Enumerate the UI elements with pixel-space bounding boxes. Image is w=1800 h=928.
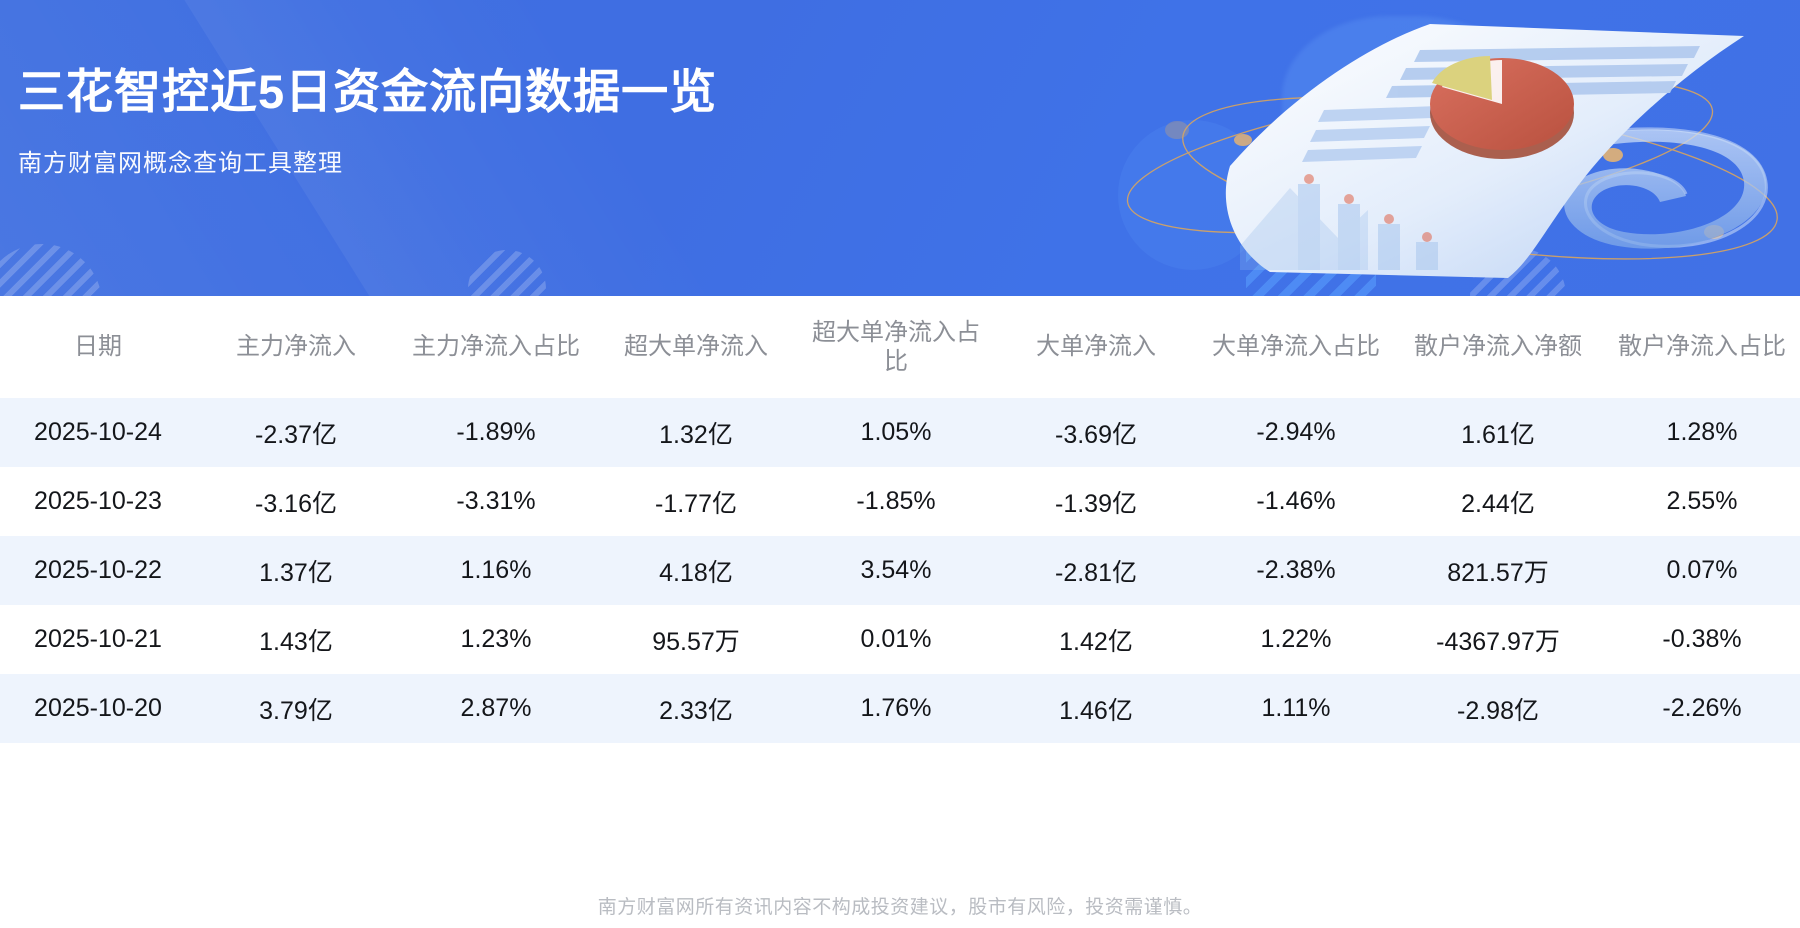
cell-retail-net-inflow-ratio: -0.38% [1600, 605, 1800, 674]
table-row: 2025-10-22 1.37亿 1.16% 4.18亿 3.54% -2.81… [0, 536, 1800, 605]
fund-flow-table: 日期 主力净流入 主力净流入占比 超大单净流入 超大单净流入占比 大单净流入 大… [0, 296, 1800, 743]
financial-report-illustration [1120, 0, 1800, 296]
cell-date: 2025-10-22 [0, 536, 196, 605]
paper-text-lines-secondary [1302, 106, 1438, 162]
cell-extra-large-order-net-inflow-ratio: 1.05% [796, 398, 996, 467]
cell-retail-net-inflow-amount: 1.61亿 [1396, 398, 1600, 467]
page-footer: 南方财富网所有资讯内容不构成投资建议，股市有风险，投资需谨慎。 [0, 882, 1800, 928]
cell-main-net-inflow: -2.37亿 [196, 398, 396, 467]
disclaimer-text: 南方财富网所有资讯内容不构成投资建议，股市有风险，投资需谨慎。 [598, 892, 1203, 919]
cell-large-order-net-inflow: -2.81亿 [996, 536, 1196, 605]
cell-extra-large-order-net-inflow: 2.33亿 [596, 674, 796, 743]
cell-retail-net-inflow-ratio: -2.26% [1600, 674, 1800, 743]
cell-large-order-net-inflow-ratio: 1.11% [1196, 674, 1396, 743]
cell-large-order-net-inflow-ratio: -1.46% [1196, 467, 1396, 536]
cell-retail-net-inflow-ratio: 2.55% [1600, 467, 1800, 536]
cell-extra-large-order-net-inflow: -1.77亿 [596, 467, 796, 536]
cell-extra-large-order-net-inflow: 1.32亿 [596, 398, 796, 467]
cell-large-order-net-inflow: -1.39亿 [996, 467, 1196, 536]
cell-large-order-net-inflow: -3.69亿 [996, 398, 1196, 467]
cell-extra-large-order-net-inflow: 4.18亿 [596, 536, 796, 605]
cell-large-order-net-inflow-ratio: -2.38% [1196, 536, 1396, 605]
cell-date: 2025-10-24 [0, 398, 196, 467]
striped-circle-decoration [468, 250, 546, 296]
column-header-large-order-net-inflow: 大单净流入 [996, 296, 1196, 398]
cell-extra-large-order-net-inflow: 95.57万 [596, 605, 796, 674]
cell-extra-large-order-net-inflow-ratio: -1.85% [796, 467, 996, 536]
cell-extra-large-order-net-inflow-ratio: 3.54% [796, 536, 996, 605]
table-header-row: 日期 主力净流入 主力净流入占比 超大单净流入 超大单净流入占比 大单净流入 大… [0, 296, 1800, 398]
cell-main-net-inflow: 3.79亿 [196, 674, 396, 743]
page-title: 三花智控近5日资金流向数据一览 [18, 53, 717, 122]
table-row: 2025-10-23 -3.16亿 -3.31% -1.77亿 -1.85% -… [0, 467, 1800, 536]
page-banner: 三花智控近5日资金流向数据一览 南方财富网概念查询工具整理 [0, 0, 1800, 296]
table-row: 2025-10-20 3.79亿 2.87% 2.33亿 1.76% 1.46亿… [0, 674, 1800, 743]
column-header-extra-large-order-net-inflow: 超大单净流入 [596, 296, 796, 398]
cell-large-order-net-inflow-ratio: 1.22% [1196, 605, 1396, 674]
cell-date: 2025-10-23 [0, 467, 196, 536]
cell-main-net-inflow: 1.43亿 [196, 605, 396, 674]
cell-main-net-inflow-ratio: 1.23% [396, 605, 596, 674]
cell-main-net-inflow-ratio: 2.87% [396, 674, 596, 743]
cell-retail-net-inflow-ratio: 1.28% [1600, 398, 1800, 467]
pie-chart-graphic [1430, 56, 1574, 159]
cell-date: 2025-10-21 [0, 605, 196, 674]
cell-main-net-inflow-ratio: -3.31% [396, 467, 596, 536]
cell-main-net-inflow-ratio: 1.16% [396, 536, 596, 605]
cell-retail-net-inflow-amount: 821.57万 [1396, 536, 1600, 605]
table-row: 2025-10-21 1.43亿 1.23% 95.57万 0.01% 1.42… [0, 605, 1800, 674]
cell-date: 2025-10-20 [0, 674, 196, 743]
striped-circle-decoration [0, 244, 102, 296]
cell-large-order-net-inflow: 1.42亿 [996, 605, 1196, 674]
page-subtitle: 南方财富网概念查询工具整理 [18, 143, 343, 178]
column-header-extra-large-order-net-inflow-ratio: 超大单净流入占比 [796, 296, 996, 398]
table-body: 2025-10-24 -2.37亿 -1.89% 1.32亿 1.05% -3.… [0, 398, 1800, 743]
table-row: 2025-10-24 -2.37亿 -1.89% 1.32亿 1.05% -3.… [0, 398, 1800, 467]
cell-retail-net-inflow-ratio: 0.07% [1600, 536, 1800, 605]
column-header-large-order-net-inflow-ratio: 大单净流入占比 [1196, 296, 1396, 398]
cell-main-net-inflow: -3.16亿 [196, 467, 396, 536]
cell-retail-net-inflow-amount: 2.44亿 [1396, 467, 1600, 536]
column-header-main-net-inflow-ratio: 主力净流入占比 [396, 296, 596, 398]
cell-retail-net-inflow-amount: -4367.97万 [1396, 605, 1600, 674]
cell-main-net-inflow: 1.37亿 [196, 536, 396, 605]
column-header-retail-net-inflow-amount: 散户净流入净额 [1396, 296, 1600, 398]
cell-large-order-net-inflow: 1.46亿 [996, 674, 1196, 743]
column-header-main-net-inflow: 主力净流入 [196, 296, 396, 398]
cell-main-net-inflow-ratio: -1.89% [396, 398, 596, 467]
fund-flow-table-container: 南方财富网 Southmoney.com 日期 主力净流入 主力净流入占比 超大… [0, 296, 1800, 882]
cell-extra-large-order-net-inflow-ratio: 0.01% [796, 605, 996, 674]
cell-large-order-net-inflow-ratio: -2.94% [1196, 398, 1396, 467]
cell-extra-large-order-net-inflow-ratio: 1.76% [796, 674, 996, 743]
column-header-retail-net-inflow-ratio: 散户净流入占比 [1600, 296, 1800, 398]
cell-retail-net-inflow-amount: -2.98亿 [1396, 674, 1600, 743]
column-header-date: 日期 [0, 296, 196, 398]
